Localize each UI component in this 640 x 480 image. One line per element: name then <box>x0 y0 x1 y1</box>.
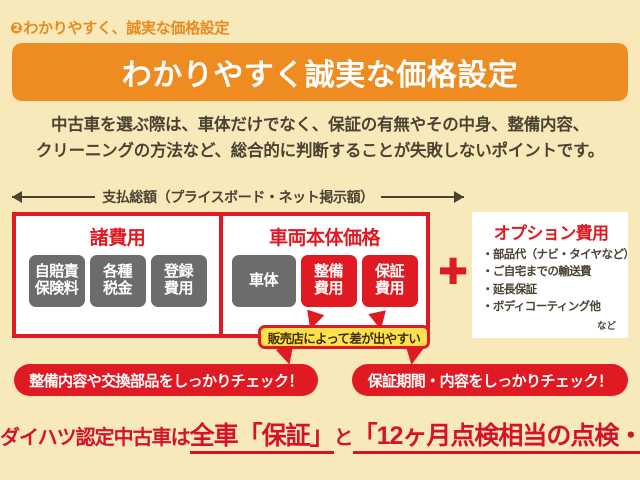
list-item: ・部品代（ナビ・タイヤなど） <box>482 247 620 264</box>
lead-line-2: クリーニングの方法など、総合的に判断することが失敗しないポイントです。 <box>0 138 640 164</box>
list-item: ・ご自宅までの輸送費 <box>482 264 620 281</box>
chip-line-1: 保証 <box>375 264 404 281</box>
chip-warranty-fee: 保証 費用 <box>362 255 418 307</box>
claim-part-2-warranty: 全車「保証」 <box>190 422 334 454</box>
list-item: ・ボディコーティング他 <box>482 299 620 316</box>
option-fees-title: オプション費用 <box>482 219 620 244</box>
chip-maintenance-fee: 整備 費用 <box>301 255 357 307</box>
misc-fees-section: 諸費用 自賠責 保険料 各種 税金 登録 費用 <box>16 216 219 334</box>
section-eyebrow-label: わかりやすく、誠実な価格設定 <box>23 20 229 37</box>
vehicle-price-chip-row: 車体 整備 費用 保証 費用 <box>232 255 418 307</box>
claim-part-1: ダイハツ認定中古車は <box>0 427 190 449</box>
check-maintenance-banner-text: 整備内容や交換部品をしっかりチェック！ <box>29 370 303 391</box>
chip-line-2: 保険料 <box>35 281 79 298</box>
vehicle-price-heading: 車両本体価格 <box>269 223 380 250</box>
chip-various-taxes: 各種 税金 <box>90 255 146 307</box>
option-fees-footnote: など <box>482 318 620 332</box>
arrow-left-head-icon <box>12 196 95 198</box>
dealer-difference-callout-text: 販売店によって差が出やすい <box>268 328 420 347</box>
chip-liability-insurance: 自賠責 保険料 <box>29 255 85 307</box>
bottom-claim-line: ダイハツ認定中古車は全車「保証」と「12ヶ月点検相当の点検・整備」付き <box>0 416 640 452</box>
total-amount-arrow: 支払総額（プライスボード・ネット掲示額） <box>12 186 464 208</box>
chip-registration-fee: 登録 費用 <box>151 255 207 307</box>
chip-line-2: 費用 <box>375 281 404 298</box>
chip-line-1: 登録 <box>164 264 193 281</box>
check-maintenance-banner: 整備内容や交換部品をしっかりチェック！ <box>14 364 318 396</box>
plus-icon: ✚ <box>438 261 464 287</box>
headline-title: わかりやすく誠実な価格設定 <box>122 50 519 94</box>
check-warranty-banner: 保証期間・内容をしっかりチェック！ <box>352 364 628 396</box>
option-fees-list: ・部品代（ナビ・タイヤなど） ・ご自宅までの輸送費 ・延長保証 ・ボディコーティ… <box>482 247 620 317</box>
chip-car-body: 車体 <box>232 255 296 307</box>
infographic-page: ❷わかりやすく、誠実な価格設定 わかりやすく誠実な価格設定 中古車を選ぶ際は、車… <box>0 0 640 480</box>
claim-part-4-inspection: 「12ヶ月点検相当の点検・整備」 <box>353 422 640 454</box>
chip-line-1: 各種 <box>103 264 132 281</box>
chip-line-1: 自賠責 <box>35 264 79 281</box>
dealer-difference-callout: 販売店によって差が出やすい <box>258 325 430 349</box>
chip-line-2: 費用 <box>314 281 343 298</box>
section-eyebrow: ❷わかりやすく、誠実な価格設定 <box>10 17 229 38</box>
chip-line-2: 費用 <box>164 281 193 298</box>
misc-fees-heading: 諸費用 <box>90 223 146 250</box>
check-warranty-banner-text: 保証期間・内容をしっかりチェック！ <box>368 370 613 391</box>
chip-line-2: 税金 <box>103 281 132 298</box>
chip-line-1: 整備 <box>314 264 343 281</box>
lead-paragraph: 中古車を選ぶ際は、車体だけでなく、保証の有無やその中身、整備内容、 クリーニング… <box>0 112 640 165</box>
cost-breakdown-box: 諸費用 自賠責 保険料 各種 税金 登録 費用 車両本体価格 <box>12 212 430 338</box>
lead-line-1: 中古車を選ぶ際は、車体だけでなく、保証の有無やその中身、整備内容、 <box>0 112 640 138</box>
option-fees-box: オプション費用 ・部品代（ナビ・タイヤなど） ・ご自宅までの輸送費 ・延長保証 … <box>472 212 628 338</box>
misc-fees-chip-row: 自賠責 保険料 各種 税金 登録 費用 <box>29 255 207 307</box>
headline-banner: わかりやすく誠実な価格設定 <box>12 43 628 101</box>
list-item: ・延長保証 <box>482 282 620 299</box>
section-number: ❷ <box>10 20 22 37</box>
chip-line-1: 車体 <box>249 273 278 290</box>
total-amount-label: 支払総額（プライスボード・ネット掲示額） <box>95 187 381 207</box>
claim-part-3: と <box>334 427 353 449</box>
arrow-right-head-icon <box>381 196 464 198</box>
